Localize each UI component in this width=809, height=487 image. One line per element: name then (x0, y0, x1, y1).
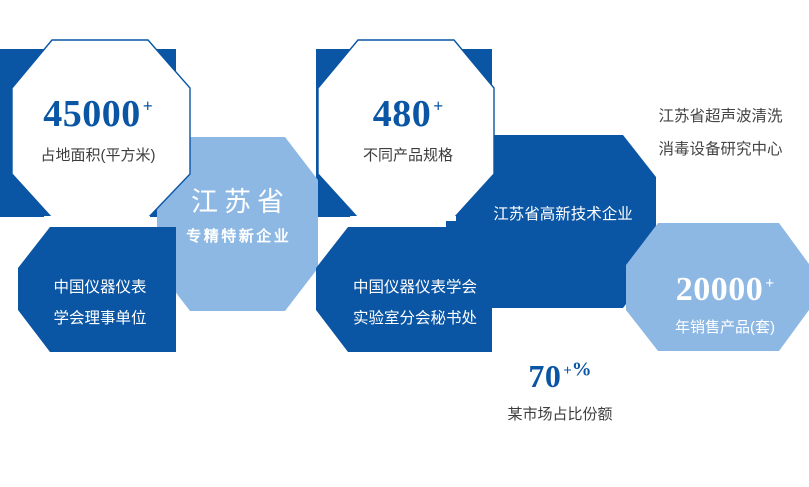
label-research-center-line1: 江苏省超声波清洗 (658, 101, 782, 134)
badge-council-line2: 学会理事单位 (53, 303, 146, 334)
hexagon-shape-layer (0, 0, 809, 487)
badge-brand-main: 江苏省 (185, 188, 290, 218)
badge-hightech-label: 江苏省高新技术企业 (493, 199, 633, 230)
stat-specs-value: 480+ (373, 95, 443, 133)
stat-area-value: 45000+ (43, 95, 152, 133)
badge-secretariat-line1: 中国仪器仪表学会 (353, 272, 477, 303)
badge-council-line1: 中国仪器仪表 (53, 272, 146, 303)
stat-sales[interactable]: 20000+ 年销售产品(套) (640, 266, 809, 346)
stat-specs[interactable]: 480+ 不同产品规格 (322, 88, 494, 174)
badge-brand[interactable]: 江苏省 专精特新企业 (157, 176, 318, 258)
stat-sales-value: 20000+ (676, 273, 774, 307)
badge-secretariat[interactable]: 中国仪器仪表学会 实验室分会秘书处 (322, 268, 508, 338)
stat-area[interactable]: 45000+ 占地面积(平方米) (8, 88, 188, 174)
badge-brand-sub: 专精特新企业 (184, 225, 292, 246)
stat-market-share-value: 70+% (528, 360, 591, 392)
area-separator-bar (44, 216, 150, 221)
stat-specs-caption: 不同产品规格 (363, 145, 453, 167)
specs-separator-bar (350, 216, 456, 221)
badge-council[interactable]: 中国仪器仪表 学会理事单位 (10, 268, 190, 338)
badge-hightech[interactable]: 江苏省高新技术企业 (470, 195, 656, 233)
infographic-stage: 45000+ 占地面积(平方米) 江苏省 专精特新企业 480+ 不同产品规格 … (0, 0, 809, 487)
stat-market-share-caption: 某市场占比份额 (507, 404, 612, 426)
label-research-center: 江苏省超声波清洗 消毒设备研究中心 (638, 99, 803, 169)
stat-market-share[interactable]: 70+% 某市场占比份额 (470, 360, 650, 426)
stat-area-caption: 占地面积(平方米) (41, 145, 156, 167)
stat-sales-caption: 年销售产品(套) (675, 317, 775, 339)
badge-secretariat-line2: 实验室分会秘书处 (353, 303, 477, 334)
label-research-center-line2: 消毒设备研究中心 (658, 134, 782, 167)
